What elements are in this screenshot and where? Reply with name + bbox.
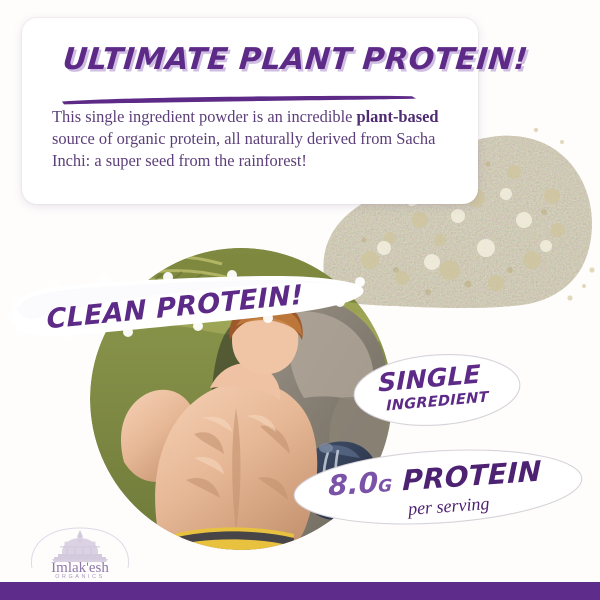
body-copy: This single ingredient powder is an incr… — [52, 106, 464, 171]
body-emphasis: plant-based — [357, 107, 439, 126]
info-card: ULTIMATE PLANT PROTEIN! This single ingr… — [22, 18, 478, 204]
callout-single-ingredient: SINGLE INGREDIENT — [352, 352, 522, 428]
body-part2: source of organic protein, all naturally… — [52, 129, 435, 170]
infographic-canvas: ULTIMATE PLANT PROTEIN! This single ingr… — [0, 0, 600, 600]
protein-unit: G — [378, 476, 392, 497]
logo-tagline-text: ORGANICS — [55, 574, 105, 578]
brand-logo: Imlak'esh ORGANICS — [22, 522, 138, 578]
headline-underline-stroke — [60, 92, 420, 106]
protein-amount: 8.0 — [328, 466, 379, 503]
clean-protein-banner: CLEAN PROTEIN! — [8, 268, 368, 348]
body-part1: This single ingredient powder is an incr… — [52, 107, 357, 126]
bottom-accent-bar — [0, 582, 600, 600]
callout-protein-per-serving: 8.0G PROTEIN per serving — [292, 448, 584, 526]
headline-group: ULTIMATE PLANT PROTEIN! — [42, 30, 462, 100]
page-title: ULTIMATE PLANT PROTEIN! — [61, 42, 529, 77]
